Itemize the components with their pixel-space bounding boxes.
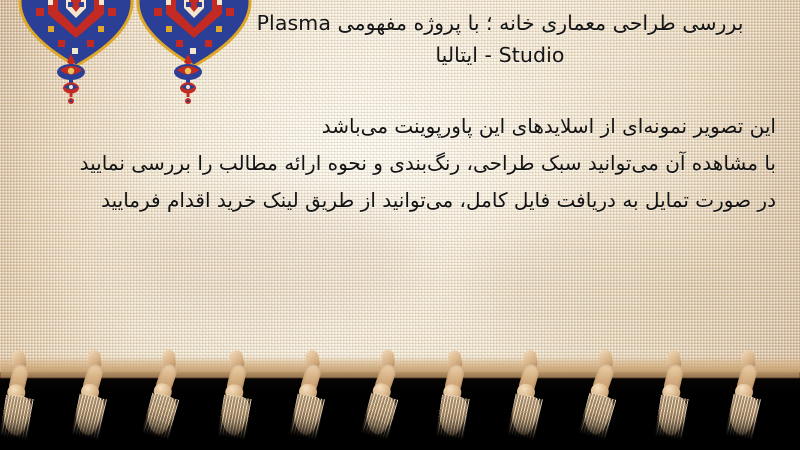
tassel-strands — [725, 394, 761, 441]
tassel-strands — [218, 395, 252, 441]
fringe-tassel — [658, 361, 703, 450]
tassel-strands — [71, 394, 107, 441]
tassel-strands — [289, 394, 325, 441]
tassel-strands — [436, 395, 470, 441]
medallion-pendant-right-icon — [165, 52, 211, 112]
medallion-pendant-left-icon — [48, 52, 94, 112]
fringe-tassel — [222, 361, 267, 450]
slide-canvas: بررسی طراحی معماری خانه ؛ با پروژه مفهوم… — [0, 0, 800, 450]
tassel-strands — [0, 395, 34, 441]
body-line-2: با مشاهده آن می‌توانید سبک طراحی، رنگ‌بن… — [24, 145, 776, 182]
fringe-tassel — [79, 362, 119, 450]
fringe-tassel — [733, 362, 773, 450]
fringe-tassel — [4, 361, 49, 450]
fringe-tassel — [440, 361, 485, 450]
tassel-strands — [654, 395, 688, 441]
fringe-tassel — [586, 361, 631, 450]
tassel-strands — [578, 393, 616, 441]
carpet-fringe-tassels — [0, 362, 800, 450]
tassel-strands — [142, 393, 180, 441]
fringe-tassel — [367, 361, 412, 450]
slide-title-line-2: Studio - ایتالیا — [210, 40, 790, 72]
tassel-strands — [507, 394, 543, 441]
slide-title: بررسی طراحی معماری خانه ؛ با پروژه مفهوم… — [210, 8, 790, 72]
body-line-1: این تصویر نمونه‌ای از اسلایدهای این پاور… — [24, 108, 776, 145]
carpet-stain-right — [470, 230, 730, 340]
body-line-3: در صورت تمایل به دریافت فایل کامل، می‌تو… — [24, 182, 776, 219]
fringe-tassel — [515, 362, 555, 450]
slide-body-text: این تصویر نمونه‌ای از اسلایدهای این پاور… — [24, 108, 776, 219]
fringe-tassel — [297, 362, 337, 450]
slide-title-line-1: بررسی طراحی معماری خانه ؛ با پروژه مفهوم… — [210, 8, 790, 40]
fringe-tassel — [149, 361, 194, 450]
tassel-strands — [360, 393, 398, 441]
